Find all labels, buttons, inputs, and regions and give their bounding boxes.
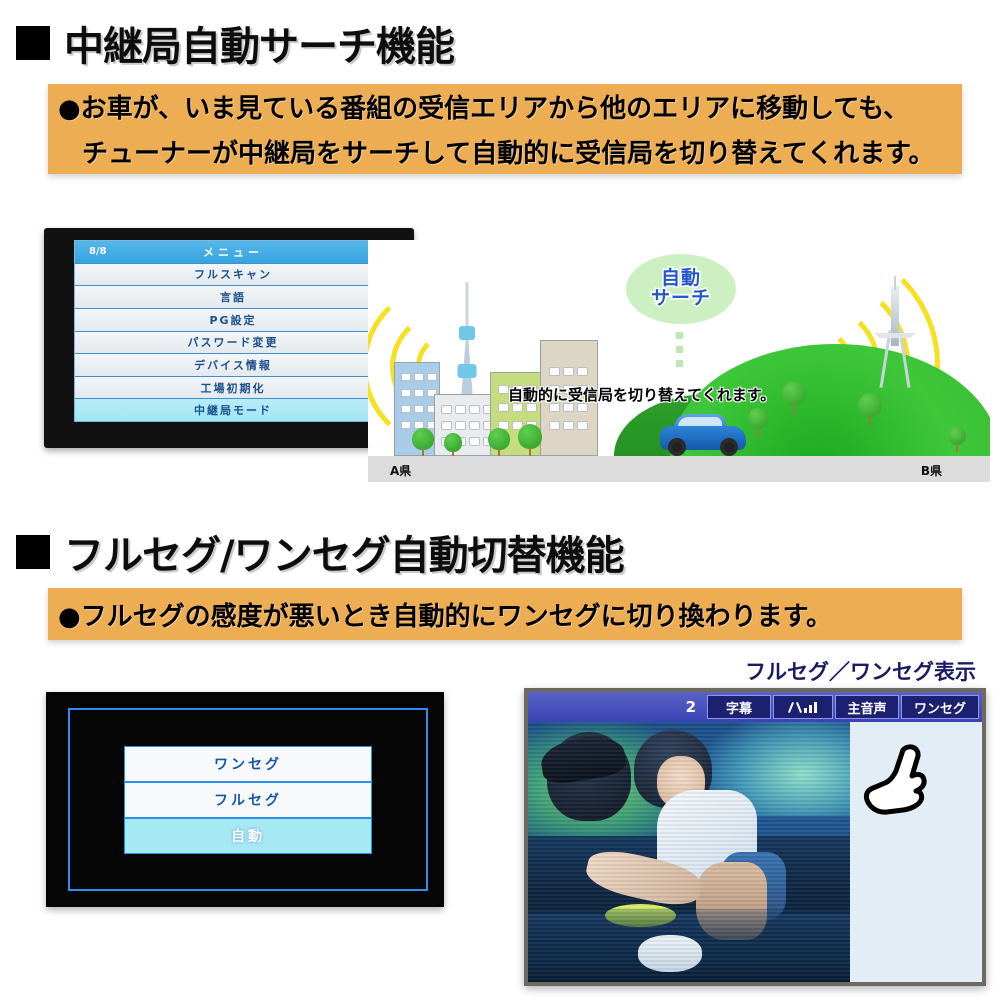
product-feature-sheet: 中継局自動サーチ機能 ●お車が、いま見ている番組の受信エリアから他のエリアに移動… (0, 0, 1000, 1000)
car-icon (660, 414, 746, 456)
segment-options-list[interactable]: ワンセグ フルセグ 自動 (124, 746, 372, 854)
oneseg-video-area (528, 722, 850, 982)
section-1-title: 中継局自動サーチ機能 (64, 14, 454, 72)
tv-display-device: 2 字幕 主音声 ワンセグ (524, 688, 986, 986)
bullet-square-icon (16, 535, 50, 569)
antenna-signal-icon (773, 695, 833, 719)
menu-item-factory-reset[interactable]: 工場初期化 (75, 377, 391, 400)
section-2-banner: ●フルセグの感度が悪いとき自動的にワンセグに切り換わります。 (48, 588, 962, 640)
badge-line-1: 自動 (661, 269, 701, 289)
tuner-menu-device: 8/8 メニュー フルスキャン 言語 PG設定 パスワード変更 デバイス情報 工… (44, 228, 414, 448)
illustration-caption: 自動的に受信局を切り替えてくれます。 (508, 384, 775, 405)
menu-item-device-info[interactable]: デバイス情報 (75, 354, 391, 377)
segment-select-device: ワンセグ フルセグ 自動 (46, 692, 444, 907)
badge-line-2: サーチ (651, 289, 711, 309)
tree-icon (412, 428, 434, 458)
menu-item-pg-setting[interactable]: PG設定 (75, 309, 391, 332)
tree-icon (782, 381, 806, 414)
menu-title: メニュー (203, 244, 263, 260)
menu-item-full-scan[interactable]: フルスキャン (75, 264, 391, 287)
tree-icon (858, 393, 882, 426)
subtitle-indicator[interactable]: 字幕 (707, 695, 771, 719)
badge-dots (676, 332, 683, 367)
section-2-title: フルセグ/ワンセグ自動切替機能 (64, 523, 624, 581)
section-1-banner: ●お車が、いま見ている番組の受信エリアから他のエリアに移動しても、 チューナーが… (48, 84, 962, 174)
tree-icon (488, 428, 510, 458)
tv-status-bar: 2 字幕 主音声 ワンセグ (528, 692, 982, 722)
audio-indicator[interactable]: 主音声 (835, 695, 899, 719)
segment-screen: ワンセグ フルセグ 自動 (68, 708, 428, 891)
tree-icon (948, 426, 966, 452)
channel-number: 2 (528, 692, 706, 722)
tree-icon (748, 408, 768, 436)
banner-line: ●フルセグの感度が悪いとき自動的にワンセグに切り換わります。 (58, 596, 962, 633)
tv-screen: 2 字幕 主音声 ワンセグ (528, 692, 982, 982)
menu-page-indicator: 8/8 (89, 246, 107, 257)
tree-icon (444, 433, 462, 458)
banner-line: チューナーが中継局をサーチして自動的に受信局を切り替えてくれます。 (82, 133, 962, 170)
menu-header: 8/8 メニュー (75, 241, 391, 264)
section-1-heading: 中継局自動サーチ機能 (16, 14, 454, 72)
segment-option-auto[interactable]: 自動 (125, 819, 371, 853)
pointing-hand-cursor-icon (863, 743, 929, 819)
tree-icon (518, 424, 542, 458)
menu-item-relay-station-mode[interactable]: 中継局モード (75, 399, 391, 421)
area-label-right: B県 (921, 462, 942, 479)
segment-option-fullseg[interactable]: フルセグ (125, 783, 371, 819)
segment-indicator[interactable]: ワンセグ (901, 695, 979, 719)
area-label-left: A県 (390, 462, 411, 479)
auto-search-illustration: 自動 サーチ 自動的に受信局を切り替えてくれます。 A県 B県 (368, 240, 990, 488)
oneseg-blank-sidebar (850, 722, 982, 982)
relay-tower-icon (872, 278, 918, 388)
auto-search-badge: 自動 サーチ (626, 254, 736, 324)
tv-display-label: フルセグ／ワンセグ表示 (745, 656, 976, 686)
banner-line: ●お車が、いま見ている番組の受信エリアから他のエリアに移動しても、 (58, 88, 962, 125)
menu-item-password-change[interactable]: パスワード変更 (75, 332, 391, 355)
bullet-square-icon (16, 26, 50, 60)
menu-item-language[interactable]: 言語 (75, 286, 391, 309)
segment-option-oneseg[interactable]: ワンセグ (125, 747, 371, 783)
menu-screen[interactable]: 8/8 メニュー フルスキャン 言語 PG設定 パスワード変更 デバイス情報 工… (74, 240, 392, 422)
section-2-heading: フルセグ/ワンセグ自動切替機能 (16, 523, 624, 581)
road-strip: A県 B県 (368, 456, 990, 482)
